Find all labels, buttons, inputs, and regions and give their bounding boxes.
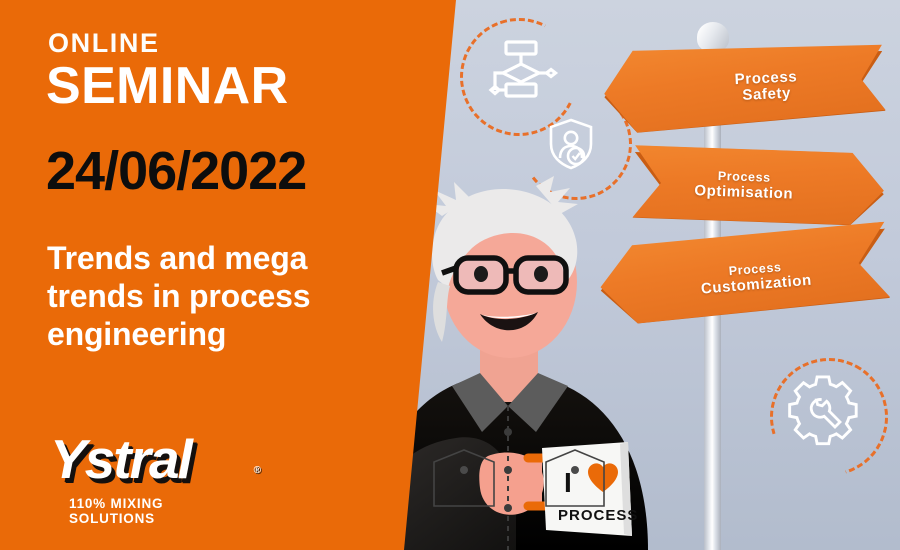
sign-process-safety[interactable]: Process Safety [602, 34, 886, 137]
logo-wordmark-text: Ystral [50, 428, 191, 490]
sign-line-2: Optimisation [694, 183, 793, 203]
registered-mark-icon: ® [254, 466, 259, 476]
sign-label: Process Safety [734, 69, 798, 104]
event-subtitle: Trends and mega trends in process engine… [47, 240, 407, 353]
kicker-label: ONLINE [48, 28, 160, 59]
orange-panel: ONLINE SEMINAR 24/06/2022 Trends and meg… [0, 0, 470, 550]
logo-tagline: 110% MIXING SOLUTIONS [69, 496, 250, 526]
sign-label: Process Optimisation [694, 169, 794, 202]
logo-wordmark: Ystral ® [50, 432, 250, 487]
gear-wrench-icon [788, 375, 860, 447]
sign-line-2: Safety [735, 85, 798, 104]
svg-text:PROCESS: PROCESS [558, 507, 638, 524]
flowchart-icon [487, 40, 559, 108]
ystral-logo[interactable]: Ystral ® 110% MIXING SOLUTIONS [50, 432, 250, 528]
page-title: SEMINAR [46, 56, 289, 116]
event-date: 24/06/2022 [46, 140, 306, 202]
shield-person-check-icon [548, 118, 594, 170]
svg-text:I: I [564, 467, 572, 498]
seminar-poster: Process Safety Process Optimisation Proc… [0, 0, 900, 550]
